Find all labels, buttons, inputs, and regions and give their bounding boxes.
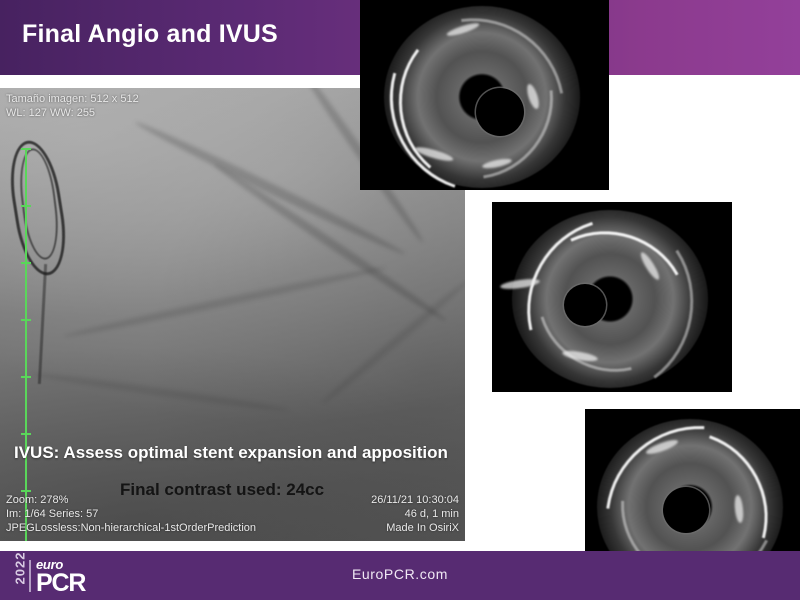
ruler-tick xyxy=(21,205,31,207)
ivus-cross-section xyxy=(492,202,732,392)
stent-strut-arc xyxy=(372,0,583,190)
footer-website-link[interactable]: EuroPCR.com xyxy=(0,566,800,582)
annotation-primary: IVUS: Assess optimal stent expansion and… xyxy=(14,443,448,463)
dicom-datetime: 26/11/21 10:30:04 xyxy=(371,493,459,507)
vertical-ruler xyxy=(25,148,27,541)
dicom-transfer-syntax: JPEGLossless:Non-hierarchical-1stOrderPr… xyxy=(6,521,256,535)
ruler-tick xyxy=(21,148,31,150)
ivus-frame-1 xyxy=(360,0,609,190)
dicom-overlay-bottom-right: 26/11/21 10:30:04 46 d, 1 min Made In Os… xyxy=(371,493,459,535)
ivus-catheter-core xyxy=(564,284,606,326)
ruler-tick xyxy=(21,262,31,264)
dicom-window-level: WL: 127 WW: 255 xyxy=(6,106,139,120)
annotation-secondary: Final contrast used: 24cc xyxy=(120,480,324,500)
dicom-image-size: Tamaño imagen: 512 x 512 xyxy=(6,92,139,106)
ivus-catheter-core xyxy=(663,487,709,533)
ruler-tick xyxy=(21,490,31,492)
ruler-tick xyxy=(21,433,31,435)
dicom-elapsed-time: 46 d, 1 min xyxy=(371,507,459,521)
dicom-image-series: Im: 1/64 Series: 57 xyxy=(6,507,256,521)
dicom-overlay-top-left: Tamaño imagen: 512 x 512 WL: 127 WW: 255 xyxy=(6,92,139,120)
dicom-made-in: Made In OsiriX xyxy=(371,521,459,535)
ruler-tick xyxy=(21,376,31,378)
ruler-tick xyxy=(21,319,31,321)
page-title: Final Angio and IVUS xyxy=(22,20,278,49)
ivus-catheter-core xyxy=(476,88,524,136)
ivus-frame-2 xyxy=(492,202,732,392)
ivus-cross-section xyxy=(360,0,609,190)
